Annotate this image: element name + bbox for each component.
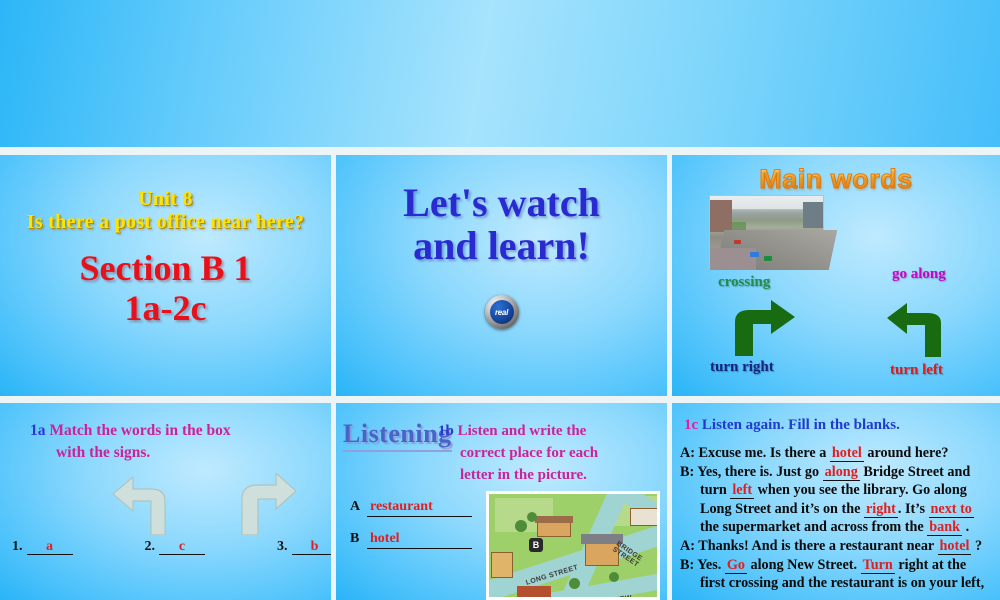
answer-letter: A	[350, 499, 367, 515]
task-1b-heading: 1b Listen and write the correct place fo…	[438, 421, 648, 486]
map-tree	[569, 578, 580, 589]
task-1b-instruction-line1: Listen and write the	[458, 423, 587, 439]
panel-divider-vertical	[667, 155, 672, 396]
dialog-text: Yes.	[697, 557, 725, 573]
answer-item[interactable]: 2. c	[145, 539, 206, 555]
task-1b-answers: A restaurant B hotel	[350, 499, 472, 563]
task-1c-number: 1c	[684, 417, 698, 433]
dialog-text: first crossing and the restaurant is on …	[700, 575, 984, 591]
dialog-text: Yes, there is. Just go	[697, 464, 822, 480]
slide-task-1c[interactable]: 1c Listen again. Fill in the blanks. A: …	[672, 403, 1000, 600]
photo-building-left	[710, 200, 732, 232]
dialog-line: A: Excuse me. Is there a hotel around he…	[680, 444, 1000, 463]
photo-car	[734, 240, 741, 244]
answer-number: 1.	[12, 539, 23, 555]
dialog-text: . It’s	[898, 501, 929, 517]
answer-row[interactable]: A restaurant	[350, 499, 472, 517]
section-range: 1a-2c	[0, 288, 331, 328]
dialog-fill-blank[interactable]: along	[823, 464, 860, 481]
task-1a-answers: 1. a 2. c 3. b	[0, 539, 331, 555]
task-1b-instruction-line2: correct place for each	[460, 443, 648, 465]
answer-row[interactable]: B hotel	[350, 531, 472, 549]
watch-title-line1: Let's watch	[336, 181, 667, 224]
answer-blank[interactable]: b	[292, 539, 332, 555]
task-1c-dialog: A: Excuse me. Is there a hotel around he…	[680, 444, 1000, 593]
dialog-fill-blank[interactable]: left	[730, 482, 754, 499]
map-roof	[535, 516, 573, 523]
slide-task-1b[interactable]: Listening 1b Listen and write the correc…	[336, 403, 667, 600]
turn-right-arrow-icon	[725, 300, 797, 361]
slide-main-words[interactable]: Main words crossing go along turn right …	[672, 155, 1000, 396]
dialog-fill-blank[interactable]: right	[864, 501, 898, 518]
task-1a-heading: 1a Match the words in the box with the s…	[30, 420, 331, 465]
banner-divider	[0, 147, 1000, 155]
dialog-fill-blank[interactable]: Turn	[861, 557, 895, 574]
slide-thumbnail-grid: Unit 8 Is there a post office near here?…	[0, 0, 1000, 600]
top-banner	[0, 0, 1000, 147]
answer-item[interactable]: 3. b	[277, 539, 331, 555]
dialog-speaker: B:	[680, 464, 697, 480]
answer-item[interactable]: 1. a	[12, 539, 73, 555]
map-tree	[527, 512, 537, 522]
realplayer-globe: real	[490, 300, 514, 324]
sign-turn-left-arrow-icon	[113, 477, 175, 540]
unit-question: Is there a post office near here?	[0, 211, 331, 234]
dialog-text: Bridge Street and	[860, 464, 970, 480]
dialog-fill-blank[interactable]: next to	[929, 501, 974, 518]
dialog-text: the supermarket and across from the	[700, 519, 927, 535]
sign-arrows-group	[0, 473, 331, 535]
answer-blank[interactable]: hotel	[367, 531, 472, 549]
dialog-text: right at the	[895, 557, 966, 573]
slide-unit-title[interactable]: Unit 8 Is there a post office near here?…	[0, 155, 331, 396]
map-building	[630, 508, 658, 526]
photo-building-right	[803, 202, 823, 228]
realplayer-label: real	[495, 308, 508, 317]
answer-blank[interactable]: restaurant	[367, 499, 472, 517]
dialog-line: turn left when you see the library. Go a…	[680, 481, 1000, 500]
map-marker-b: B	[529, 538, 543, 552]
sign-turn-right-arrow-icon	[232, 473, 296, 540]
unit-number: Unit 8	[0, 188, 331, 211]
dialog-text: Excuse me. Is there a	[699, 445, 830, 461]
dialog-fill-blank[interactable]: Go	[725, 557, 747, 574]
photo-car	[750, 252, 759, 257]
dialog-text: Long Street and it’s on the	[700, 501, 864, 517]
listening-wordart: Listening	[343, 419, 452, 452]
turn-left-arrow-icon	[887, 303, 951, 362]
task-1a-number: 1a	[30, 422, 46, 439]
task-1b-instruction-line3: letter in the picture.	[460, 465, 648, 487]
dialog-speaker: A:	[680, 445, 699, 461]
label-go-along: go along	[892, 266, 946, 283]
slide-lets-watch[interactable]: Let's watch and learn! real	[336, 155, 667, 396]
label-turn-left: turn left	[890, 362, 943, 379]
label-crossing: crossing	[718, 274, 770, 291]
dialog-text: .	[962, 519, 969, 535]
section-label: Section B 1	[0, 248, 331, 288]
map-tree	[515, 520, 527, 532]
dialog-line: Long Street and it’s on the right. It’s …	[680, 500, 1000, 519]
town-map-image: B LONG STREET BRIDGE STREET NEW STREET	[486, 491, 660, 600]
task-1c-instruction: Listen again. Fill in the blanks.	[702, 417, 900, 433]
dialog-line: B: Yes, there is. Just go along Bridge S…	[680, 463, 1000, 482]
answer-number: 2.	[145, 539, 156, 555]
dialog-speaker: A:	[680, 538, 698, 554]
main-words-title: Main words	[672, 164, 1000, 195]
map-roof	[517, 586, 551, 600]
answer-blank[interactable]: a	[27, 539, 73, 555]
dialog-fill-blank[interactable]: hotel	[938, 538, 972, 555]
answer-letter: B	[350, 531, 367, 547]
task-1a-instruction-line2: with the signs.	[56, 442, 331, 464]
answer-blank[interactable]: c	[159, 539, 205, 555]
map-building	[491, 552, 513, 578]
panel-divider-horizontal	[0, 396, 1000, 403]
crossing-photo	[709, 195, 824, 268]
dialog-text: Thanks! And is there a restaurant near	[698, 538, 937, 554]
dialog-text: when you see the library. Go along	[754, 482, 967, 498]
task-1c-heading: 1c Listen again. Fill in the blanks.	[684, 417, 1000, 434]
dialog-line: A: Thanks! And is there a restaurant nea…	[680, 537, 1000, 556]
task-1b-number: 1b	[438, 423, 454, 439]
map-tree	[609, 572, 619, 582]
panel-divider-vertical	[667, 403, 672, 600]
panel-divider-vertical	[331, 403, 336, 600]
watch-title-line2: and learn!	[336, 224, 667, 267]
dialog-speaker: B:	[680, 557, 697, 573]
dialog-fill-blank[interactable]: hotel	[830, 445, 864, 462]
task-1a-instruction-line1: Match the words in the box	[49, 422, 230, 439]
dialog-text: along New Street.	[747, 557, 861, 573]
realplayer-icon[interactable]: real	[485, 295, 519, 329]
panel-divider-vertical	[331, 155, 336, 396]
photo-plaza	[710, 248, 756, 270]
answer-number: 3.	[277, 539, 288, 555]
label-turn-right: turn right	[710, 359, 774, 376]
dialog-line: the supermarket and across from the bank…	[680, 518, 1000, 537]
photo-car	[764, 256, 772, 261]
dialog-text: turn	[700, 482, 730, 498]
dialog-text: around here?	[864, 445, 949, 461]
dialog-text: ?	[971, 538, 982, 554]
dialog-line: B: Yes. Go along New Street. Turn right …	[680, 556, 1000, 575]
dialog-line: first crossing and the restaurant is on …	[680, 574, 1000, 593]
slide-task-1a[interactable]: 1a Match the words in the box with the s…	[0, 403, 331, 600]
dialog-fill-blank[interactable]: bank	[927, 519, 962, 536]
